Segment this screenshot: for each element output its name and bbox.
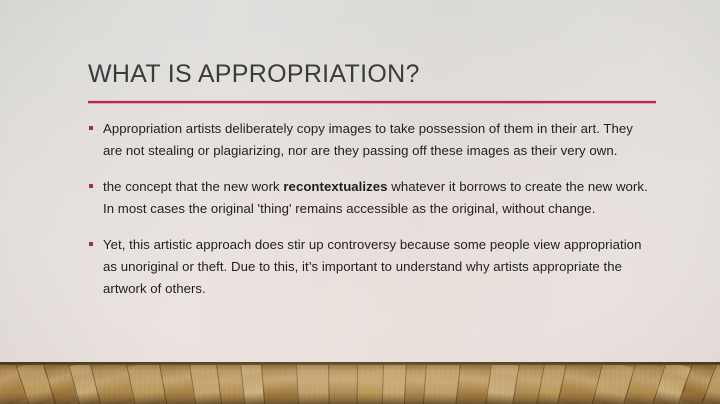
bullet-text-pre: Appropriation artists deliberately copy … xyxy=(103,121,633,158)
floor-plank xyxy=(296,363,330,404)
floor-baseboard xyxy=(0,362,720,365)
title-underline-rule xyxy=(88,101,656,103)
wood-floor xyxy=(0,362,720,404)
bullet-item: the concept that the new work recontextu… xyxy=(88,176,654,220)
presentation-slide: WHAT IS APPROPRIATION? Appropriation art… xyxy=(0,0,720,404)
bullet-marker-icon xyxy=(89,242,93,246)
floor-plank xyxy=(423,363,460,404)
floor-plank xyxy=(357,364,383,404)
bullet-text: the concept that the new work recontextu… xyxy=(103,176,654,220)
floor-plank xyxy=(261,363,299,404)
bullet-marker-icon xyxy=(89,126,93,130)
bullet-text-pre: Yet, this artistic approach does stir up… xyxy=(103,237,641,296)
bullet-marker-icon xyxy=(89,184,93,188)
floor-plank xyxy=(382,364,406,404)
bullet-text-bold: recontextualizes xyxy=(283,179,387,194)
bullet-text-pre: the concept that the new work xyxy=(103,179,283,194)
bullet-text: Yet, this artistic approach does stir up… xyxy=(103,234,654,300)
bullet-item: Yet, this artistic approach does stir up… xyxy=(88,234,654,300)
slide-title: WHAT IS APPROPRIATION? xyxy=(88,60,420,89)
slide-body: Appropriation artists deliberately copy … xyxy=(88,118,654,314)
floor-plank xyxy=(328,364,358,404)
bullet-text: Appropriation artists deliberately copy … xyxy=(103,118,654,162)
bullet-item: Appropriation artists deliberately copy … xyxy=(88,118,654,162)
